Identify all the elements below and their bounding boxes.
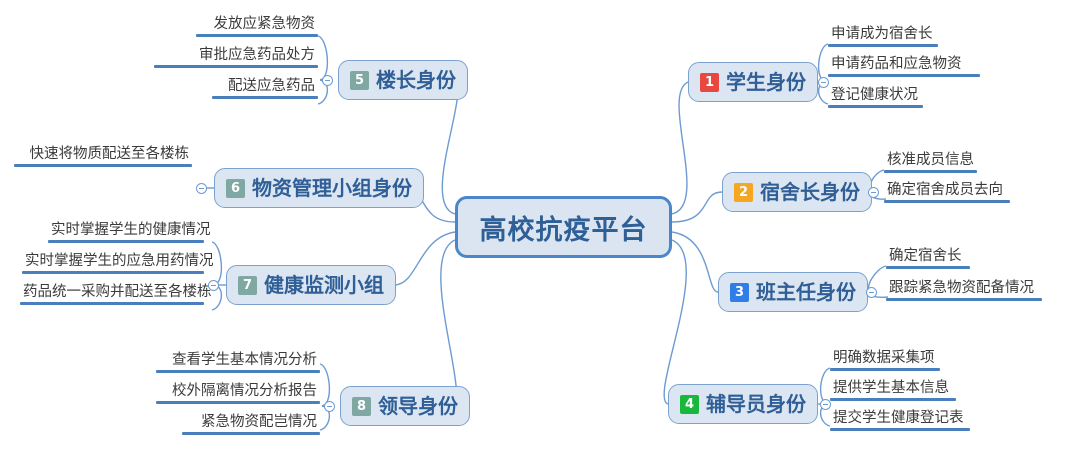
leaf-label: 提交学生健康登记表 <box>830 410 970 428</box>
leaf-underline <box>196 34 318 37</box>
leaf-underline <box>22 271 204 274</box>
branch-label-3: 班主任身份 <box>756 282 856 302</box>
leaf-item[interactable]: 紧急物资配岂情况 <box>182 414 320 435</box>
center-node-label: 高校抗疫平台 <box>480 208 648 247</box>
collapse-toggle-5[interactable] <box>322 75 333 86</box>
branch-node-3[interactable]: 3 班主任身份 <box>718 272 868 312</box>
leaf-item[interactable]: 提交学生健康登记表 <box>830 410 970 431</box>
branch-badge-5: 5 <box>350 71 369 90</box>
leaf-underline <box>828 74 980 77</box>
branch-label-5: 楼长身份 <box>376 70 456 90</box>
leaf-label: 申请成为宿舍长 <box>828 26 938 44</box>
leaf-underline <box>884 200 1010 203</box>
leaf-item[interactable]: 发放应紧急物资 <box>196 16 318 37</box>
leaf-underline <box>154 65 318 68</box>
leaf-underline <box>830 368 940 371</box>
leaf-item[interactable]: 明确数据采集项 <box>830 350 940 371</box>
leaf-label: 登记健康状况 <box>828 87 923 105</box>
branch-badge-7: 7 <box>238 276 257 295</box>
leaf-label: 实时掌握学生的健康情况 <box>48 222 204 240</box>
branch-label-6: 物资管理小组身份 <box>252 178 412 198</box>
collapse-toggle-7[interactable] <box>208 280 219 291</box>
leaf-underline <box>828 105 923 108</box>
mindmap-canvas: 高校抗疫平台 1 学生身份 申请成为宿舍长 申请药品和应急物资 登记健康状况 2… <box>0 0 1065 457</box>
branch-node-6[interactable]: 6 物资管理小组身份 <box>214 168 424 208</box>
branch-label-8: 领导身份 <box>378 396 458 416</box>
branch-node-2[interactable]: 2 宿舍长身份 <box>722 172 872 212</box>
leaf-label: 确定宿舍成员去向 <box>884 182 1010 200</box>
leaf-underline <box>182 432 320 435</box>
collapse-toggle-1[interactable] <box>818 77 829 88</box>
center-node[interactable]: 高校抗疫平台 <box>455 196 672 258</box>
leaf-label: 校外隔离情况分析报告 <box>156 383 320 401</box>
collapse-toggle-2[interactable] <box>868 187 879 198</box>
branch-label-7: 健康监测小组 <box>264 275 384 295</box>
branch-node-7[interactable]: 7 健康监测小组 <box>226 265 396 305</box>
branch-badge-4: 4 <box>680 395 699 414</box>
leaf-label: 申请药品和应急物资 <box>828 56 980 74</box>
leaf-item[interactable]: 跟踪紧急物资配备情况 <box>886 280 1042 301</box>
leaf-item[interactable]: 核准成员信息 <box>884 152 977 173</box>
leaf-underline <box>156 370 320 373</box>
leaf-item[interactable]: 查看学生基本情况分析 <box>156 352 320 373</box>
leaf-label: 配送应急药品 <box>212 78 318 96</box>
leaf-label: 明确数据采集项 <box>830 350 940 368</box>
leaf-underline <box>156 401 320 404</box>
leaf-underline <box>48 240 204 243</box>
leaf-label: 紧急物资配岂情况 <box>182 414 320 432</box>
branch-label-2: 宿舍长身份 <box>760 182 860 202</box>
leaf-item[interactable]: 快速将物质配送至各楼栋 <box>14 146 192 167</box>
leaf-underline <box>830 398 956 401</box>
leaf-item[interactable]: 申请药品和应急物资 <box>828 56 980 77</box>
leaf-item[interactable]: 药品统一采购并配送至各楼栋 <box>20 284 204 305</box>
branch-label-1: 学生身份 <box>726 72 806 92</box>
leaf-underline <box>828 44 938 47</box>
leaf-label: 发放应紧急物资 <box>196 16 318 34</box>
branch-label-4: 辅导员身份 <box>706 394 806 414</box>
leaf-item[interactable]: 确定宿舍长 <box>886 248 970 269</box>
branch-badge-6: 6 <box>226 179 245 198</box>
leaf-label: 提供学生基本信息 <box>830 380 956 398</box>
leaf-underline <box>884 170 977 173</box>
leaf-item[interactable]: 校外隔离情况分析报告 <box>156 383 320 404</box>
leaf-label: 跟踪紧急物资配备情况 <box>886 280 1042 298</box>
branch-badge-8: 8 <box>352 397 371 416</box>
branch-node-8[interactable]: 8 领导身份 <box>340 386 470 426</box>
leaf-item[interactable]: 审批应急药品处方 <box>154 47 318 68</box>
branch-node-4[interactable]: 4 辅导员身份 <box>668 384 818 424</box>
leaf-item[interactable]: 提供学生基本信息 <box>830 380 956 401</box>
leaf-underline <box>830 428 970 431</box>
leaf-label: 快速将物质配送至各楼栋 <box>14 146 192 164</box>
leaf-label: 实时掌握学生的应急用药情况 <box>22 253 204 271</box>
leaf-underline <box>14 164 192 167</box>
branch-node-5[interactable]: 5 楼长身份 <box>338 60 468 100</box>
branch-badge-2: 2 <box>734 183 753 202</box>
leaf-label: 确定宿舍长 <box>886 248 970 266</box>
leaf-item[interactable]: 实时掌握学生的应急用药情况 <box>22 253 204 274</box>
leaf-item[interactable]: 申请成为宿舍长 <box>828 26 938 47</box>
leaf-item[interactable]: 登记健康状况 <box>828 87 923 108</box>
collapse-toggle-6[interactable] <box>196 183 207 194</box>
leaf-underline <box>886 266 970 269</box>
leaf-item[interactable]: 配送应急药品 <box>212 78 318 99</box>
leaf-underline <box>212 96 318 99</box>
leaf-underline <box>886 298 1042 301</box>
leaf-label: 核准成员信息 <box>884 152 977 170</box>
branch-node-1[interactable]: 1 学生身份 <box>688 62 818 102</box>
leaf-label: 审批应急药品处方 <box>154 47 318 65</box>
branch-badge-1: 1 <box>700 73 719 92</box>
collapse-toggle-8[interactable] <box>324 401 335 412</box>
leaf-label: 药品统一采购并配送至各楼栋 <box>20 284 204 302</box>
leaf-item[interactable]: 确定宿舍成员去向 <box>884 182 1010 203</box>
branch-badge-3: 3 <box>730 283 749 302</box>
leaf-label: 查看学生基本情况分析 <box>156 352 320 370</box>
collapse-toggle-4[interactable] <box>820 399 831 410</box>
collapse-toggle-3[interactable] <box>866 287 877 298</box>
leaf-item[interactable]: 实时掌握学生的健康情况 <box>48 222 204 243</box>
leaf-underline <box>20 302 204 305</box>
